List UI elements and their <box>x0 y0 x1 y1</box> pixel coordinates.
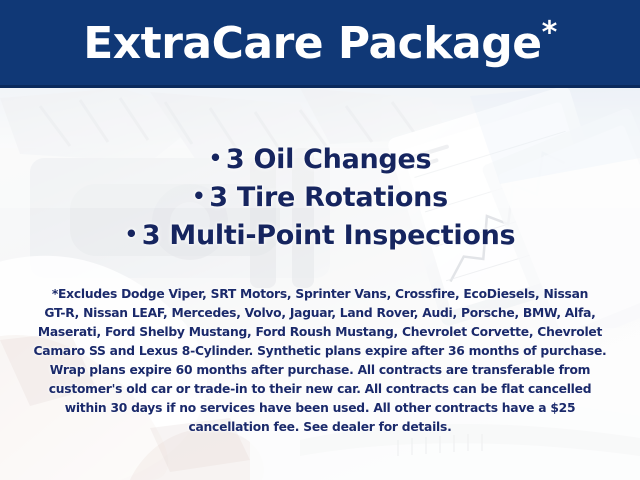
list-item: •3 Oil Changes <box>0 140 640 178</box>
offer-list: •3 Oil Changes •3 Tire Rotations •3 Mult… <box>0 140 640 254</box>
list-item-label: 3 Tire Rotations <box>209 182 448 213</box>
extracare-package-ad: ExtraCare Package* •3 Oil Changes •3 Tir… <box>0 0 640 480</box>
disclaimer-line: customer's old car or trade-in to their … <box>30 380 610 399</box>
list-item: •3 Multi-Point Inspections <box>0 216 640 254</box>
list-item-label: 3 Oil Changes <box>226 144 431 175</box>
disclaimer-line: Maserati, Ford Shelby Mustang, Ford Rous… <box>30 323 610 342</box>
page-title-text: ExtraCare Package <box>83 18 541 69</box>
bullet-dot-icon: • <box>209 146 222 170</box>
disclaimer-line: Camaro SS and Lexus 8-Cylinder. Syntheti… <box>30 342 610 361</box>
disclaimer-text: *Excludes Dodge Viper, SRT Motors, Sprin… <box>30 285 610 437</box>
header-band: ExtraCare Package* <box>0 0 640 88</box>
disclaimer-line: Wrap plans expire 60 months after purcha… <box>30 361 610 380</box>
list-item-label: 3 Multi-Point Inspections <box>142 220 516 251</box>
disclaimer-line: within 30 days if no services have been … <box>30 399 610 418</box>
disclaimer-line: cancellation fee. See dealer for details… <box>30 418 610 437</box>
page-title: ExtraCare Package* <box>0 17 640 71</box>
disclaimer-line: *Excludes Dodge Viper, SRT Motors, Sprin… <box>30 285 610 304</box>
title-asterisk: * <box>542 15 557 50</box>
disclaimer-line: GT-R, Nissan LEAF, Mercedes, Volvo, Jagu… <box>30 304 610 323</box>
bullet-dot-icon: • <box>125 222 138 246</box>
bullet-dot-icon: • <box>192 184 205 208</box>
list-item: •3 Tire Rotations <box>0 178 640 216</box>
